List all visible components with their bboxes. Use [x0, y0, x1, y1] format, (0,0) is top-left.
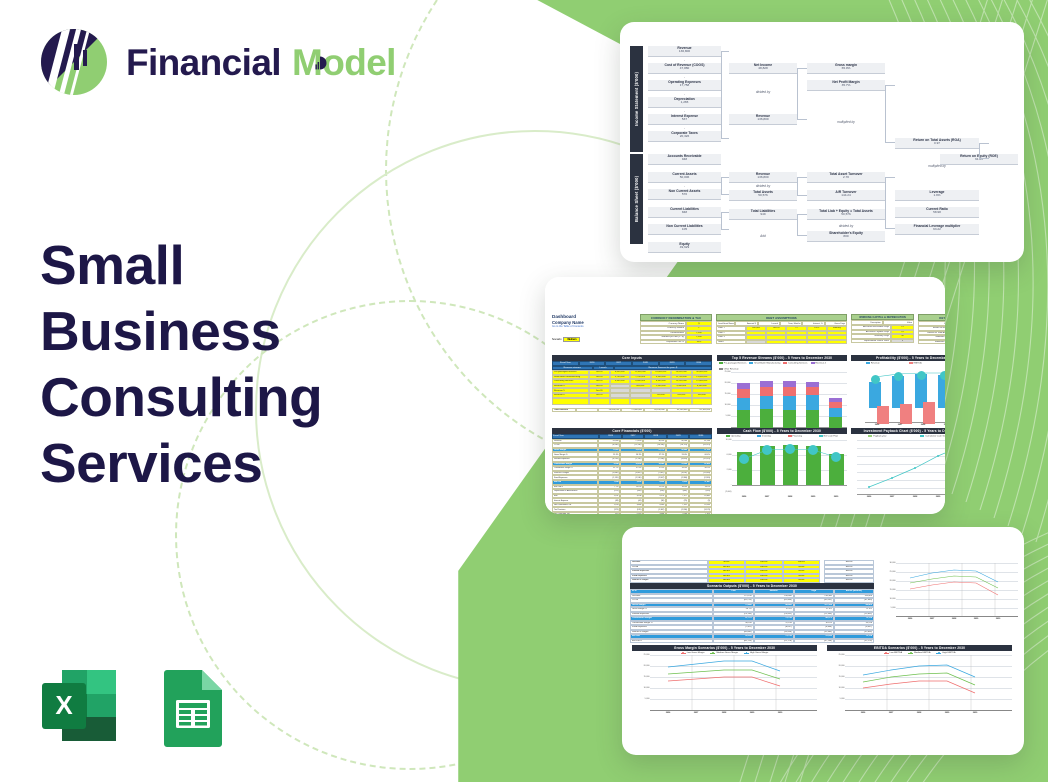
plot-area: 25,000 20,000 15,000 10,000 5,000 2026 2… — [731, 372, 847, 429]
cell: Salaries & Wages — [630, 578, 708, 583]
node-revenue-2: Revenue136,800 — [729, 114, 797, 125]
app-icons-row: X — [38, 666, 234, 748]
cell: 3,038 — [643, 512, 666, 514]
cell: (52,178) — [754, 639, 794, 644]
chart-ebitda-scenarios: EBITDA Scenarios ($'000) - 5 Years to De… — [827, 645, 1012, 712]
node-financial-leverage-multiplier: Financial Leverage multiplier63.22 — [895, 224, 979, 235]
panel-working-capital: WORKING CAPITAL & DEPRECIATION Descripti… — [851, 314, 914, 343]
op-plus-3: - — [648, 92, 721, 96]
connector-7 — [885, 85, 895, 143]
legend-item: Cumulative Cash Generated (Scenario) — [925, 436, 945, 438]
microsoft-excel-icon[interactable]: X — [38, 666, 120, 748]
cell: 7,415 — [689, 512, 712, 514]
node-net-profit-margin: Net Profit Margin35.7% — [807, 80, 885, 91]
cell: 2,145 — [620, 512, 643, 514]
node-net-income: Net Income48,828 — [729, 63, 797, 74]
legend-item: Consulting Services — [788, 363, 807, 365]
table-row: Salaries & Wages105.0%100.0%95.0% — [630, 578, 820, 583]
plot-area: 10,000 6,000 2,000 - (2,000) 2026 2027 2… — [732, 440, 847, 495]
cell[interactable] — [766, 340, 786, 345]
node-revenue-3: Revenue136,800 — [729, 172, 797, 183]
legend-item: Low Gross Margin — [687, 652, 705, 654]
cell: 870 — [598, 512, 621, 514]
legend-item: Payback year — [873, 436, 886, 438]
node-operating-expenses: Operating Expenses17,758 — [648, 80, 721, 91]
active-rows: 100.0%100.0%100.0%100.0%100.0% — [824, 560, 874, 583]
chart-legend: Operating Investing Financing Net Cash F… — [717, 434, 847, 439]
data-label-bubble — [940, 371, 945, 380]
total-value: 38,100,000 — [644, 408, 667, 413]
total-value: 49,100,000 — [667, 408, 690, 413]
scenario-label: Scenario — [552, 338, 561, 341]
plot-area: 25,000 20,000 15,000 10,000 5,000 2026 2… — [650, 655, 817, 712]
cell: Net Profit after Tax — [552, 512, 598, 514]
cell[interactable]: 5 — [891, 339, 914, 344]
assumption-rows: Revenue90.0%100.0%110.0%COGS105.0%100.0%… — [630, 560, 820, 583]
total-value: 27,000,000 — [621, 408, 644, 413]
cell: Maximum Cash Level — [918, 340, 945, 345]
cell: 100.0% — [824, 578, 874, 583]
connector-9 — [979, 143, 989, 159]
node-accounts-receivable: Accounts Receivable948 — [648, 154, 721, 165]
total-value: 20,000,000 — [598, 408, 621, 413]
node-current-assets: Current Assets50,006 — [648, 172, 721, 183]
panel-debt-assumptions: DEBT ASSUMPTIONS Loan/Grant Name Amount … — [716, 314, 847, 344]
table-row: 100.0% — [824, 578, 874, 583]
table-row: EBITDA %(60,178)(52,178)(47,198)(52,178) — [630, 639, 874, 644]
node-revenue: Revenue136,800 — [648, 46, 721, 57]
headline-line-1: Small — [40, 232, 322, 298]
legend-item: Operating — [731, 436, 741, 438]
legend-item: Financing — [792, 436, 802, 438]
op-plus-5: - — [648, 126, 721, 130]
node-roa: Return on Total Assets (ROA)0.97 — [895, 138, 979, 149]
plot-area: 25,000 20,000 15,000 10,000 5,000 2026 2… — [845, 655, 1012, 712]
cell[interactable]: 105.0% — [708, 578, 745, 583]
legend-item: Medium Gross Margin — [716, 652, 738, 654]
dashboard-toc-link[interactable]: Go to the Table of Contents — [552, 325, 632, 328]
node-current-ratio: Current Ratio58.98 — [895, 207, 979, 218]
legend-item: Other Revenue — [724, 368, 739, 370]
node-total-asset-turnover: Total Asset Turnover2.70 — [807, 172, 885, 183]
cell: Grant — [716, 340, 746, 345]
data-label-bubble — [762, 445, 772, 455]
brand-name-financial: Financial — [126, 44, 281, 81]
cell[interactable]: 95.0% — [783, 578, 820, 583]
page-title: Small Business Consulting Services — [40, 232, 322, 496]
chart-investment-payback: Investment Payback Chart ($'000) - 5 Yea… — [851, 428, 945, 495]
panel-key-metrics: KEY METRICS KPIValue Return on Equity (R… — [918, 314, 945, 344]
google-sheets-icon[interactable] — [152, 666, 234, 748]
legend-item: Low EBITDA — [890, 652, 903, 654]
data-label-bubble — [894, 372, 903, 381]
output-rows: Revenue175,130196,800218,380196,800COGS(… — [630, 594, 874, 644]
data-label-bubble — [871, 375, 880, 384]
cell[interactable]: 100.0% — [745, 578, 782, 583]
node-ar-turnover: A/R Turnover144.24 — [807, 190, 885, 201]
chart-cash-flow: Cash Flow ($'000) - 5 Years to December … — [717, 428, 847, 495]
op-divided-by-1: divided by — [729, 90, 797, 94]
chart-legend: Revenue EBITDA EBITDA % — [851, 361, 945, 366]
connector-4 — [721, 212, 729, 230]
core-inputs-table: Core Inputs Fiscal Year20262027202820292… — [552, 355, 712, 412]
screenshot-dashboard[interactable]: Dashboard Company Name Go to the Table o… — [545, 277, 945, 514]
headline-line-3: Consulting — [40, 364, 322, 430]
connector-1 — [721, 51, 729, 139]
data-label-bubble — [739, 454, 749, 464]
node-shareholders-equity: Shareholder's Equity800 — [807, 231, 885, 242]
chart-scenario-comparison: 30,000 25,000 20,000 15,000 10,000 5,000… — [880, 563, 1018, 633]
data-label-bubble — [917, 371, 926, 380]
node-cogs: Cost of Revenue (COGS)47,880 — [648, 63, 721, 74]
op-add: Add — [729, 234, 797, 238]
driver-tree-diagram: Income Statement ($'000) Balance Sheet (… — [630, 46, 1016, 244]
node-interest-expense: Interest Expense537 — [648, 114, 721, 125]
headline-line-2: Business — [40, 298, 322, 364]
chart-revenue-streams: Top 5 Revenue Streams ($'000) - 5 Years … — [717, 355, 847, 429]
brand-lockup: Financial Model — [38, 26, 396, 98]
op-divided-by-2: divided by — [729, 184, 797, 188]
connector-2 — [797, 68, 807, 120]
node-current-liabilities: Current Liabilities848 — [648, 207, 721, 218]
node-non-current-liabilities: Non Current Liabilities105 — [648, 224, 721, 235]
cell: 5,146 — [666, 512, 689, 514]
op-plus-2: - — [648, 75, 721, 79]
cell[interactable] — [786, 340, 806, 345]
headline-line-4: Services — [40, 430, 322, 496]
cell[interactable] — [807, 340, 827, 345]
data-label-bubble — [831, 452, 841, 462]
panel-header: CURRENCY DENOMINATION & TAX — [640, 314, 712, 321]
core-financials-table: Core Financials ($'000) Fiscal Year20262… — [552, 428, 712, 514]
chart-legend: Pre-packaged Services Small Batch Manufa… — [717, 361, 847, 371]
core-financials-rows: Revenue20,00027,00038,10049,10062,100COG… — [552, 439, 712, 514]
circle-bar-chart-logo-icon — [38, 26, 110, 98]
table-row: Net Profit after Tax8702,1453,0385,1467,… — [552, 512, 712, 514]
node-total-assets: Total Assets50,576 — [729, 190, 797, 201]
legend-item: Medium EBITDA — [914, 652, 930, 654]
op-plus-1: - — [648, 58, 721, 62]
connector-6 — [797, 214, 807, 236]
cell[interactable] — [746, 340, 766, 345]
row-label: Corporation Tax % — [640, 340, 686, 345]
plot-area: 30,000 25,000 20,000 15,000 10,000 5,000… — [896, 563, 1018, 617]
group-label-balance-sheet: Balance Sheet ($'000) — [630, 154, 643, 244]
legend-item: Small Batch Manufacturing — [754, 363, 780, 365]
node-corporate-taxes: Corporate Taxes20,326 — [648, 131, 721, 142]
brand-name: Financial Model — [126, 44, 396, 81]
plot-area: 70,000 60,000 50,000 40,000 30,000 20,00… — [857, 440, 945, 495]
plot-area: 2026 2027 2028 2029 2030 — [865, 367, 945, 424]
cell[interactable] — [827, 340, 847, 345]
panel-currency-tax: CURRENCY DENOMINATION & TAX Currency Nam… — [640, 314, 712, 344]
connector-8 — [885, 177, 895, 229]
total-label: Total Revenue — [552, 408, 576, 413]
cell: (52,178) — [834, 639, 874, 644]
total-value: 62,100,000 — [689, 408, 712, 413]
scenario-assumptions-table: Revenue90.0%100.0%110.0%COGS105.0%100.0%… — [630, 560, 820, 583]
op-plus-6: - — [648, 184, 721, 188]
node-total-liabilities: Total Liabilities949 — [729, 209, 797, 220]
node-depreciation: Depreciation1,265 — [648, 97, 721, 108]
chart-gross-margin-scenarios: Gross Margin Scenarios ($'000) - 5 Years… — [632, 645, 817, 712]
legend-item: Pre-packaged Services — [724, 363, 747, 365]
data-label-bubble — [785, 444, 795, 454]
panel-header: DEBT ASSUMPTIONS — [716, 314, 847, 321]
chart-legend: Payback year Cumulative Cash Generated (… — [851, 434, 945, 439]
op-plus-4: - — [648, 109, 721, 113]
node-total-liab-equity: Total Liab + Equity = Total Assets50,576 — [807, 209, 885, 220]
node-equity: Equity49,629 — [648, 242, 721, 253]
legend-item: Revenue — [871, 363, 880, 365]
mini-bar-chart-icon — [312, 55, 328, 71]
row-value[interactable]: 30% — [686, 340, 712, 345]
node-non-current-assets: Non Current Assets570 — [648, 189, 721, 200]
connector-5 — [797, 177, 807, 196]
legend-item: High Gross Margin — [750, 652, 768, 654]
op-multiplied-by-1: multiplied by — [807, 120, 885, 124]
screenshot-driver-tree[interactable]: Income Statement ($'000) Balance Sheet (… — [620, 22, 1024, 262]
node-gross-margin: Gross margin65.0% — [807, 63, 885, 74]
data-label-bubble — [808, 445, 818, 455]
left-content-panel: Financial Model Small Business Consultin… — [0, 0, 460, 782]
panel-header: KEY METRICS — [918, 314, 945, 321]
legend-item: EBITDA — [914, 363, 922, 365]
svg-text:X: X — [55, 690, 73, 720]
cell: EBITDA % — [630, 639, 713, 644]
cell: Depreciation Useful Years — [851, 339, 891, 344]
scenario-select[interactable]: Medium — [563, 337, 580, 342]
chart-profitability: Profitability ($'000) - 5 Years to Decem… — [851, 355, 945, 424]
scenario-outputs-table: Scenario Outputs ($'000) - 5 Years to De… — [630, 583, 874, 643]
connector-3 — [721, 177, 729, 195]
legend-item: Net Cash Flow — [824, 436, 838, 438]
node-leverage: Leverage1.9% — [895, 190, 979, 201]
brand-name-model-text: Model — [292, 42, 396, 83]
legend-item: High EBITDA — [942, 652, 955, 654]
screenshot-scenarios[interactable]: Revenue90.0%100.0%110.0%COGS105.0%100.0%… — [622, 527, 1024, 755]
scenario-active-column: 100.0%100.0%100.0%100.0%100.0% — [824, 560, 874, 583]
cell: (60,178) — [713, 639, 753, 644]
legend-item: Revenue 4 — [815, 363, 826, 365]
cell: (47,198) — [794, 639, 834, 644]
op-divided-by-3: divided by — [807, 224, 885, 228]
group-label-income-statement: Income Statement ($'000) — [630, 46, 643, 152]
legend-item: Investing — [762, 436, 771, 438]
brand-name-model: Model — [292, 44, 396, 81]
